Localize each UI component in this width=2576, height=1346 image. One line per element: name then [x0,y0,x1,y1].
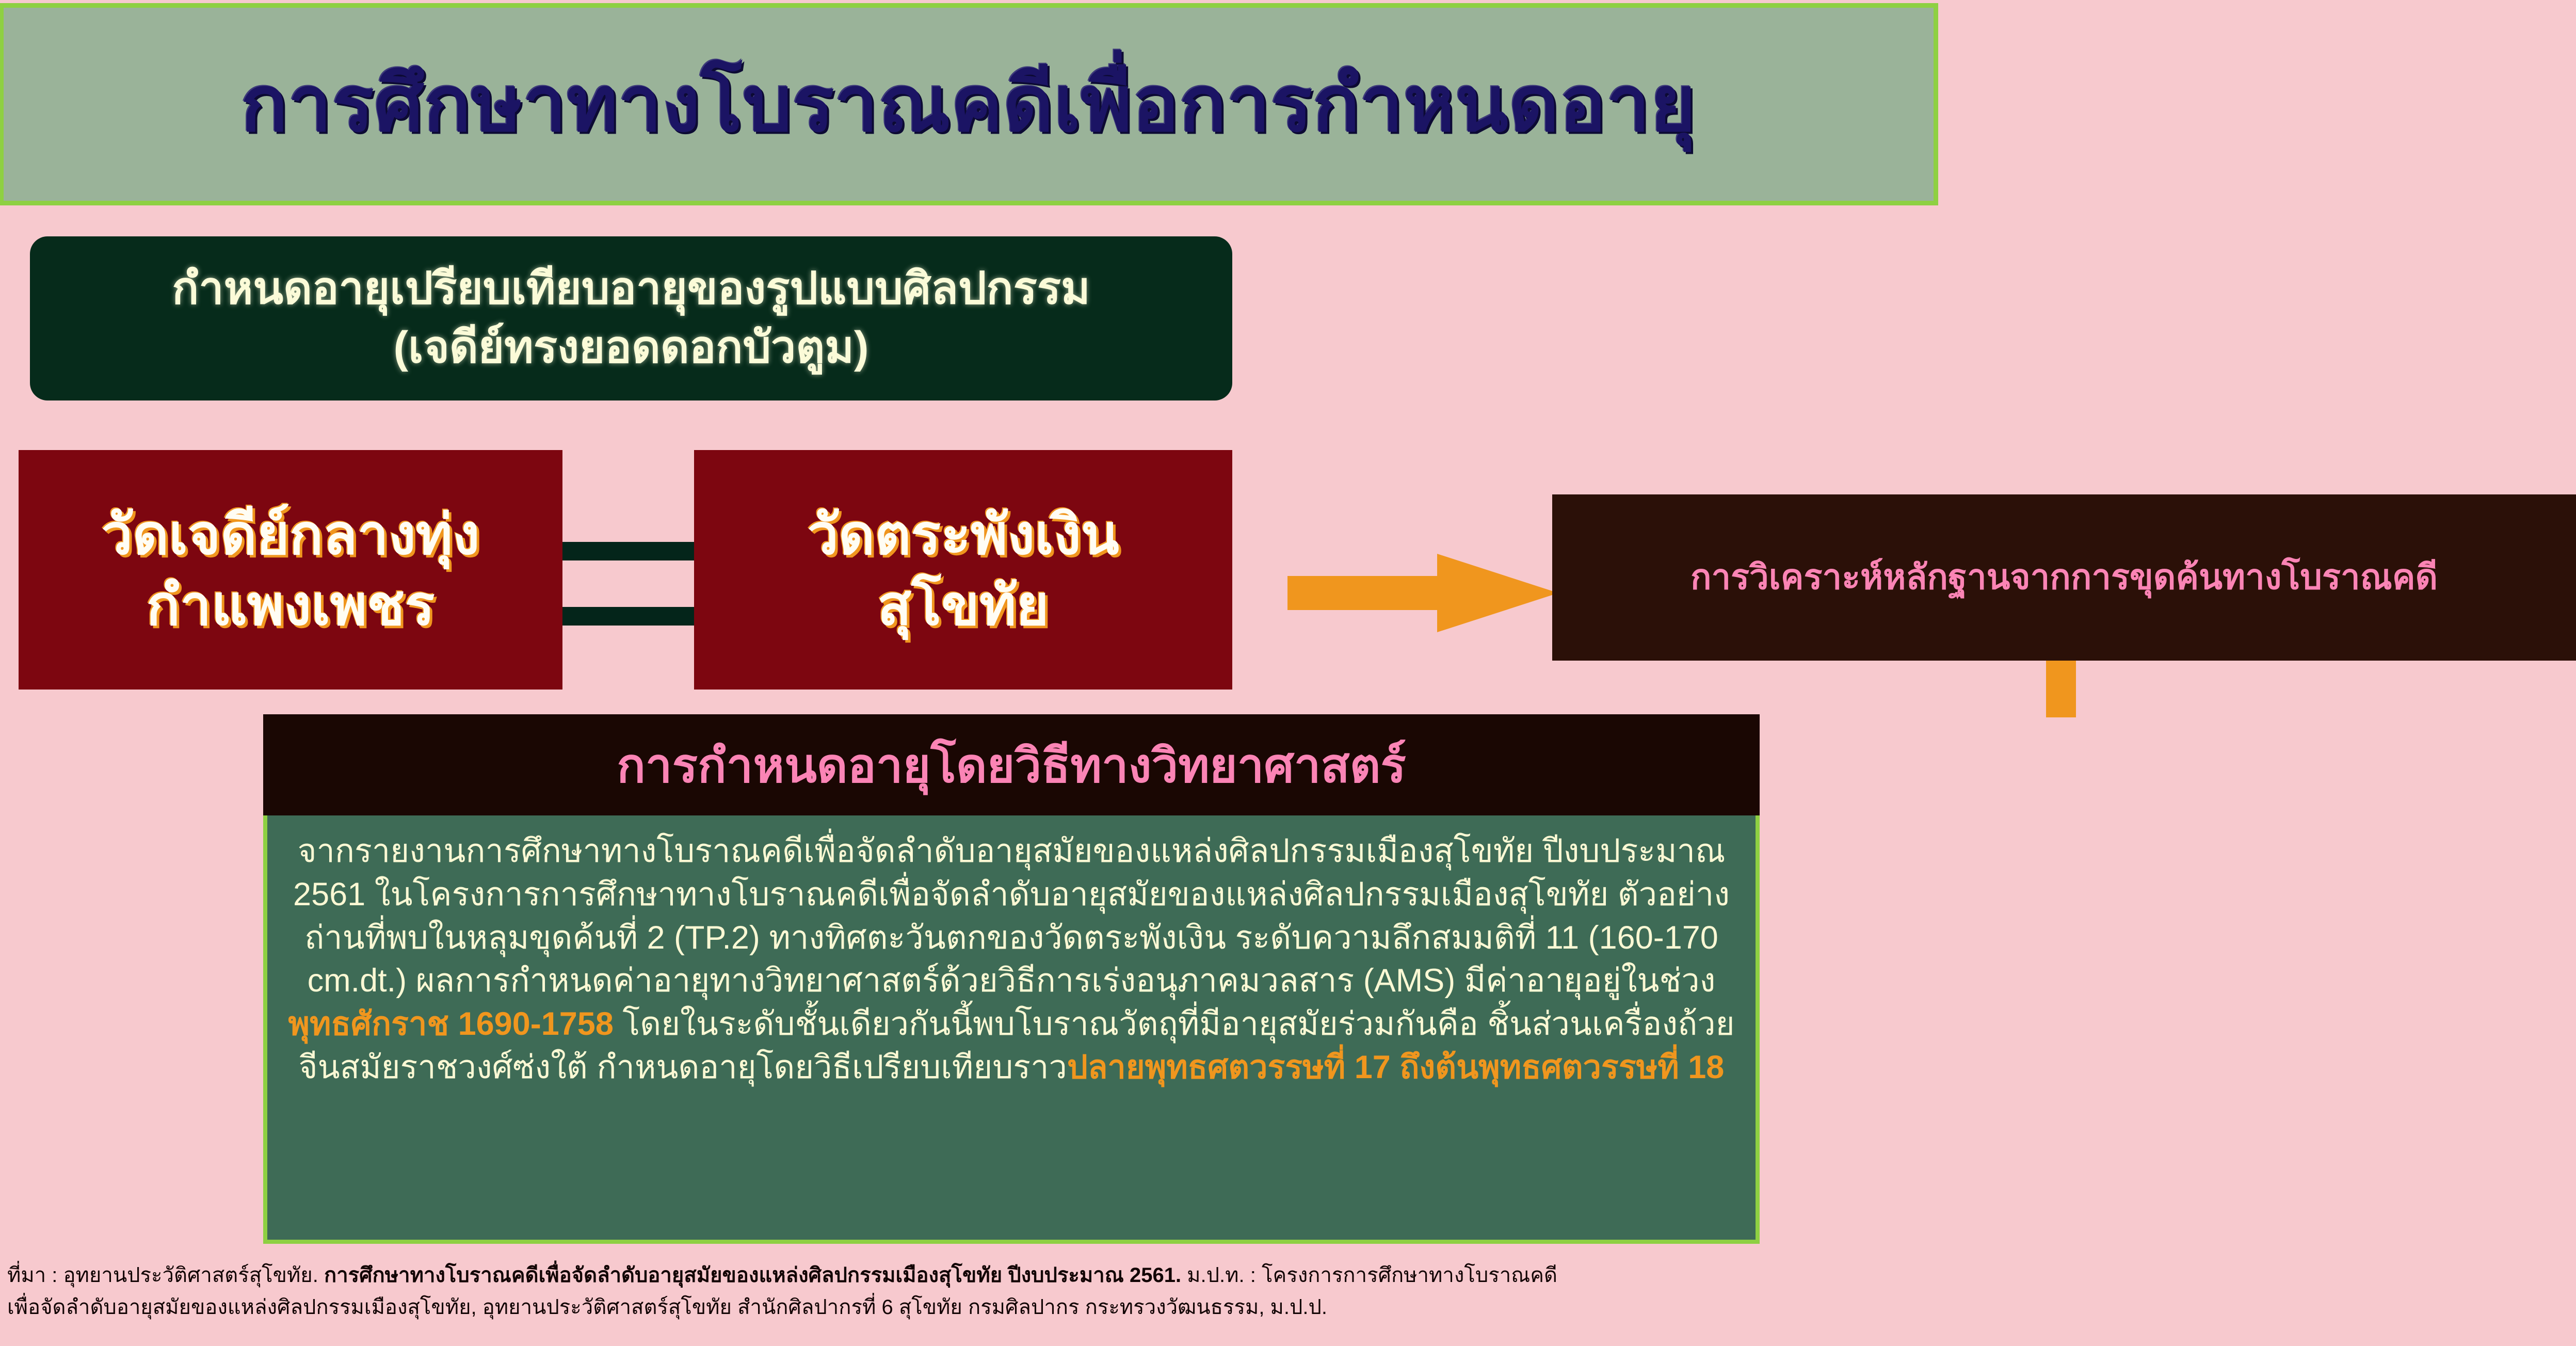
right-arrow-icon [1287,554,1558,632]
scientific-dating-header: การกำหนดอายุโดยวิธีทางวิทยาศาสตร์ [263,714,1760,815]
scientific-dating-paragraph: จากรายงานการศึกษาทางโบราณคดีเพื่อจัดลำดั… [281,830,1742,1089]
page-title-banner: การศึกษาทางโบราณคดีเพื่อการกำหนดอายุ [0,3,1938,205]
body-segment-1: จากรายงานการศึกษาทางโบราณคดีเพื่อจัดลำดั… [293,833,1730,999]
site-left-name: วัดเจดีย์กลางทุ่ง [101,499,479,570]
page-title: การศึกษาทางโบราณคดีเพื่อการกำหนดอายุ [241,63,1697,145]
archaeological-analysis-box: การวิเคราะห์หลักฐานจากการขุดค้นทางโบราณค… [1552,494,2576,661]
source-publisher: ม.ป.ท. : โครงการการศึกษาทางโบราณคดี [1181,1264,1557,1287]
comparative-dating-line-2: (เจดีย์ทรงยอดดอกบัวตูม) [393,318,868,377]
site-right-province: สุโขทัย [877,570,1049,640]
site-box-wat-chedi-klang-thung: วัดเจดีย์กลางทุ่ง กำแพงเพชร [19,450,562,690]
source-citation: ที่มา : อุทยานประวัติศาสตร์สุโขทัย. การศ… [7,1259,2567,1323]
site-box-wat-traphang-ngoen: วัดตระพังเงิน สุโขทัย [694,450,1232,690]
scientific-dating-title: การกำหนดอายุโดยวิธีทางวิทยาศาสตร์ [617,727,1406,803]
source-citation-line-2: เพื่อจัดลำดับอายุสมัยของแหล่งศิลปกรรมเมื… [7,1291,2567,1323]
comparative-dating-line-1: กำหนดอายุเปรียบเทียบอายุของรูปแบบศิลปกรร… [172,260,1090,318]
site-right-name: วัดตระพังเงิน [807,499,1119,570]
analysis-to-science-connector [2046,661,2076,717]
archaeological-analysis-label: การวิเคราะห์หลักฐานจากการขุดค้นทางโบราณค… [1691,557,2438,598]
body-highlight-buddhist-era-range: พุทธศักราช 1690-1758 [288,1006,613,1042]
body-highlight-century-range: ปลายพุทธศตวรรษที่ 17 ถึงต้นพุทธศตวรรษที่… [1067,1049,1724,1085]
site-left-province: กำแพงเพชร [147,570,435,640]
source-citation-line-1: ที่มา : อุทยานประวัติศาสตร์สุโขทัย. การศ… [7,1259,2567,1291]
source-prefix: ที่มา : อุทยานประวัติศาสตร์สุโขทัย. [7,1264,324,1287]
scientific-dating-body-panel: จากรายงานการศึกษาทางโบราณคดีเพื่อจัดลำดั… [263,815,1760,1244]
comparative-dating-box: กำหนดอายุเปรียบเทียบอายุของรูปแบบศิลปกรร… [30,236,1232,400]
source-report-title: การศึกษาทางโบราณคดีเพื่อจัดลำดับอายุสมัย… [324,1264,1181,1287]
connector-bar-top [562,542,695,560]
connector-bar-bottom [562,607,695,626]
